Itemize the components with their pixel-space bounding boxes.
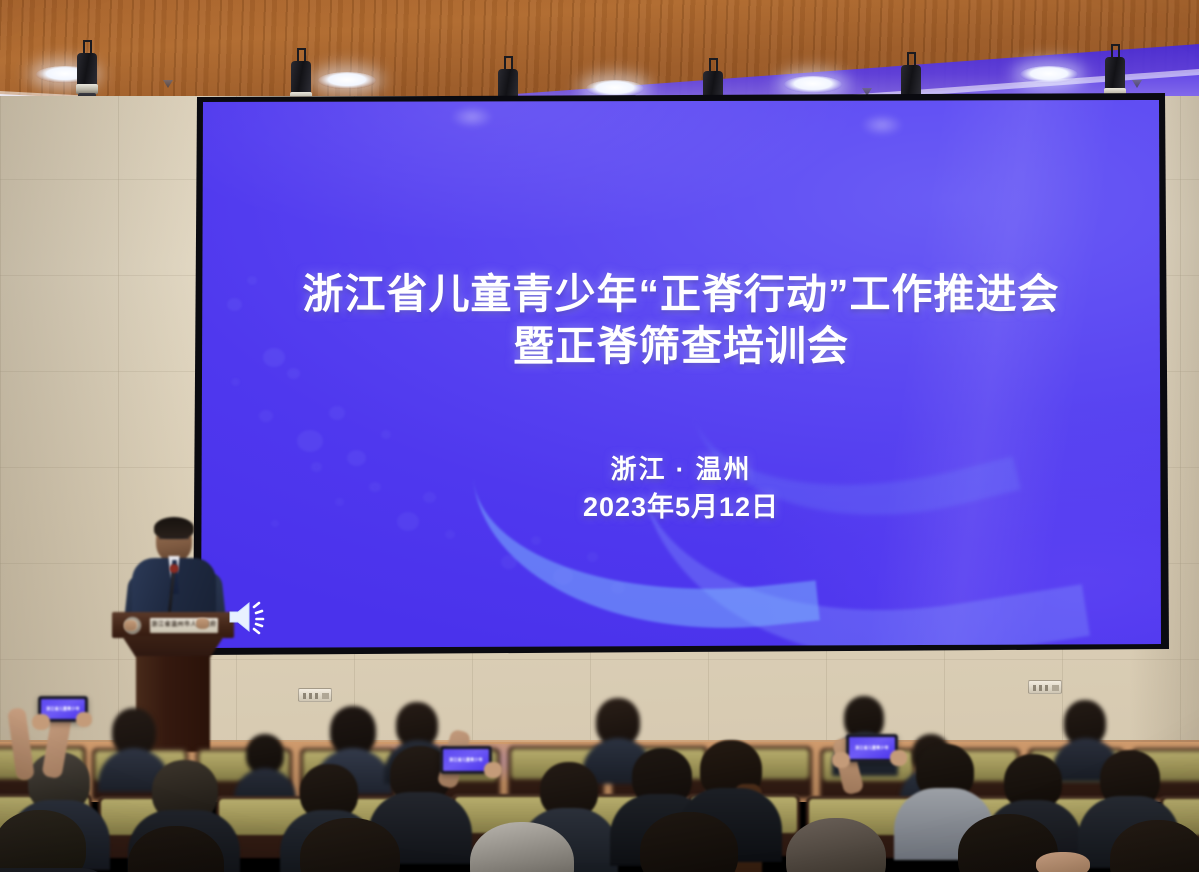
- hand: [32, 714, 50, 730]
- presenter-hand-right: [196, 618, 209, 629]
- downlight: [586, 80, 644, 97]
- slide-subtitle-block: 浙江 · 温州 2023年5月12日: [583, 450, 779, 526]
- speaker-volume-icon[interactable]: [224, 594, 270, 640]
- hand: [832, 752, 850, 768]
- podium-neck: [122, 636, 224, 658]
- hand: [76, 712, 92, 727]
- glasses-icon: [159, 537, 189, 544]
- hand: [484, 762, 502, 778]
- downlight: [1020, 66, 1078, 83]
- slide-location: 浙江 · 温州: [583, 450, 779, 488]
- slide-title-line-1: 浙江省儿童青少年“正脊行动”工作推进会: [303, 268, 1060, 320]
- downlight: [784, 76, 842, 93]
- led-screen[interactable]: 浙江省儿童青少年“正脊行动”工作推进会 暨正脊筛查培训会 浙江 · 温州 202…: [201, 100, 1161, 648]
- slide-title-line-2: 暨正脊筛查培训会: [513, 320, 849, 372]
- hand: [1036, 852, 1090, 872]
- presenter-hand-left: [124, 620, 137, 631]
- stage-spotlight: [74, 40, 100, 104]
- conference-hall-photo: 浙江省儿童青少年“正脊行动”工作推进会 暨正脊筛查培训会 浙江 · 温州 202…: [0, 0, 1199, 872]
- slide-content: 浙江省儿童青少年“正脊行动”工作推进会 暨正脊筛查培训会 浙江 · 温州 202…: [201, 100, 1161, 648]
- slide-date: 2023年5月12日: [583, 488, 779, 526]
- audience-area: 浙江省儿童青少年 浙江省儿童青少年 浙江省儿童青少年: [0, 690, 1199, 872]
- phone-screen-caption: 浙江省儿童青少年: [449, 757, 483, 763]
- downlight: [318, 72, 376, 89]
- phone-screen-caption: 浙江省儿童青少年: [855, 745, 889, 751]
- presenter-hair: [154, 517, 194, 539]
- phone-screen-caption: 浙江省儿童青少年: [46, 706, 80, 712]
- hand: [890, 750, 907, 766]
